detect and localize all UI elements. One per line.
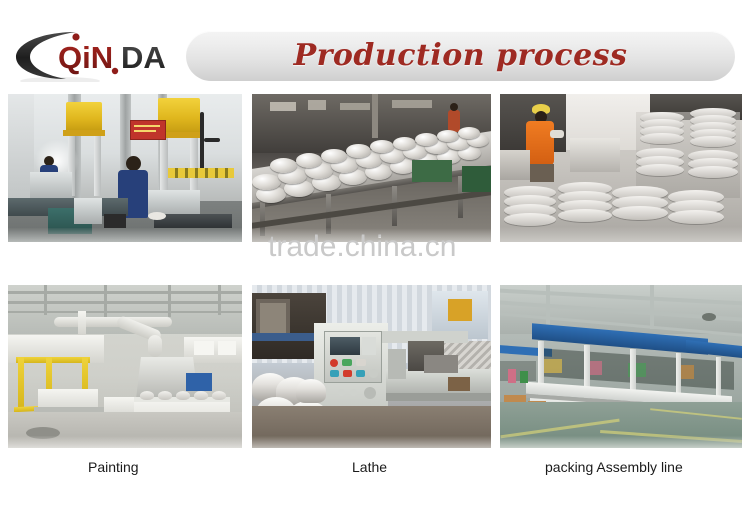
- panel-painting: [8, 285, 242, 448]
- panel-lathe: [252, 285, 491, 448]
- title-banner: Production process: [186, 31, 735, 81]
- caption-lathe: Lathe: [352, 459, 387, 475]
- production-process-page: QiN DA Production process: [0, 0, 750, 515]
- panel-packing-assembly: [500, 285, 742, 448]
- panel-conveyor-line: [252, 94, 491, 242]
- panel-blank-stacks: [500, 94, 742, 242]
- watermark: trade.china.cn: [268, 230, 483, 264]
- page-header: QiN DA Production process: [0, 0, 750, 90]
- logo-text-dark: DA: [121, 40, 166, 75]
- page-title: Production process: [186, 31, 735, 81]
- caption-painting: Painting: [88, 459, 139, 475]
- logo-text-red: QiN: [58, 40, 113, 75]
- company-logo: QiN DA: [14, 26, 182, 82]
- logo-dot-lower-icon: [112, 68, 118, 74]
- caption-packing-assembly-line: packing Assembly line: [545, 459, 683, 475]
- panel-hydraulic-press: [8, 94, 242, 242]
